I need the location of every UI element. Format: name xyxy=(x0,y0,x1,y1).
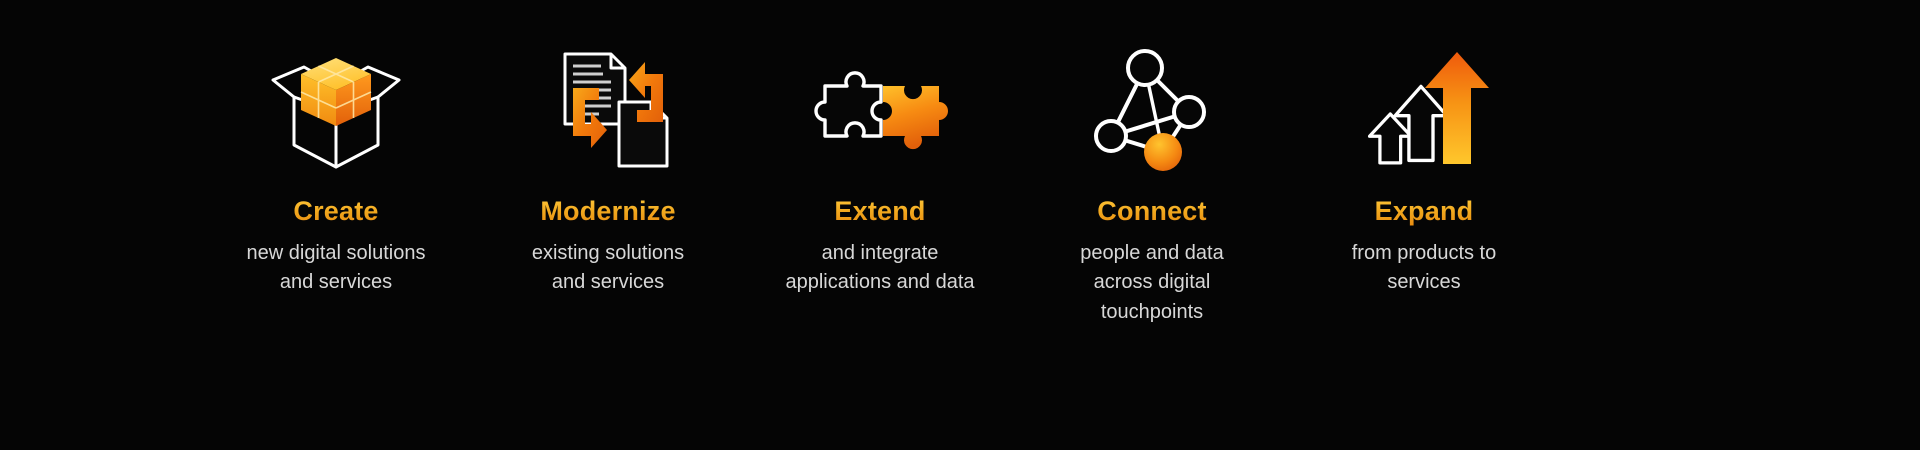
capability-heading: Extend xyxy=(834,197,925,227)
description-line: touchpoints xyxy=(1080,298,1223,328)
ascending-arrows-icon xyxy=(1349,40,1499,175)
description-line: new digital solutions xyxy=(247,239,426,269)
network-nodes-icon xyxy=(1077,40,1227,175)
description-line: applications and data xyxy=(785,268,974,298)
capability-item-expand[interactable]: Expand from products to services xyxy=(1288,0,1560,298)
capability-item-connect[interactable]: Connect people and data across digital t… xyxy=(1016,0,1288,327)
capability-description: new digital solutions and services xyxy=(247,239,426,298)
description-line: and services xyxy=(532,268,684,298)
description-line: services xyxy=(1352,268,1497,298)
capability-description: people and data across digital touchpoin… xyxy=(1080,239,1223,328)
capability-item-create[interactable]: Create new digital solutions and service… xyxy=(200,0,472,298)
description-line: and services xyxy=(247,268,426,298)
capabilities-banner: Create new digital solutions and service… xyxy=(0,0,1920,450)
capability-heading: Modernize xyxy=(540,197,675,227)
capability-description: and integrate applications and data xyxy=(785,239,974,298)
description-line: existing solutions xyxy=(532,239,684,269)
description-line: and integrate xyxy=(785,239,974,269)
capability-description: existing solutions and services xyxy=(532,239,684,298)
document-refresh-arrows-icon xyxy=(533,40,683,175)
capability-columns: Create new digital solutions and service… xyxy=(200,0,1560,450)
interlocking-puzzle-pieces-icon xyxy=(805,40,955,175)
capability-description: from products to services xyxy=(1352,239,1497,298)
capability-heading: Create xyxy=(293,197,378,227)
description-line: across digital xyxy=(1080,268,1223,298)
description-line: people and data xyxy=(1080,239,1223,269)
capability-heading: Expand xyxy=(1375,197,1474,227)
capability-item-modernize[interactable]: Modernize existing solutions and service… xyxy=(472,0,744,298)
capability-item-extend[interactable]: Extend and integrate applications and da… xyxy=(744,0,1016,298)
capability-heading: Connect xyxy=(1097,197,1206,227)
open-box-with-cube-icon xyxy=(261,40,411,175)
description-line: from products to xyxy=(1352,239,1497,269)
